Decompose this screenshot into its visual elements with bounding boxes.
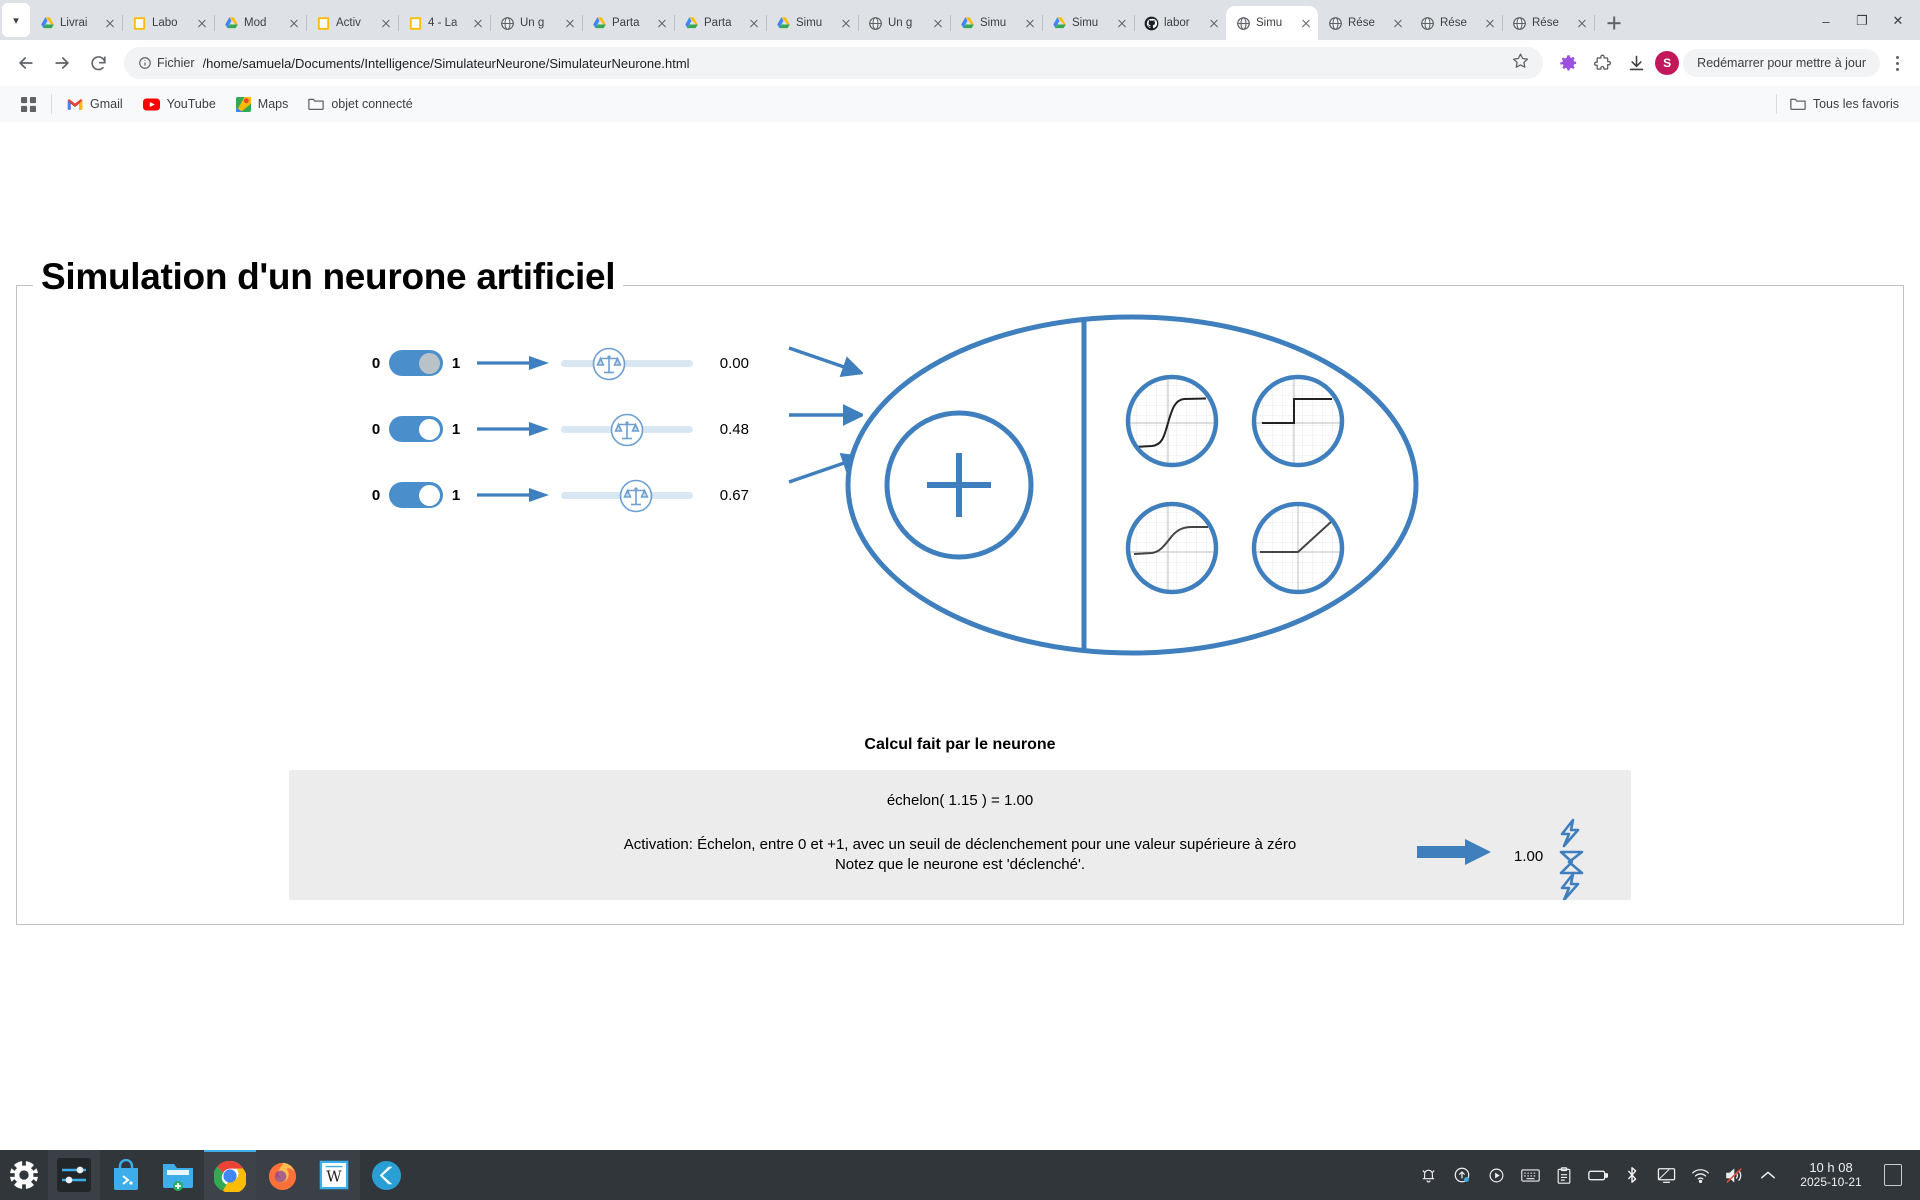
- calc-description-line2: Notez que le neurone est 'déclenché'.: [835, 856, 1085, 873]
- tab-title: Parta: [704, 15, 741, 31]
- apps-grid-icon[interactable]: [12, 93, 45, 116]
- input-arrow-icon: [477, 353, 549, 373]
- weight-slider[interactable]: [561, 409, 693, 449]
- browser-tab[interactable]: labor: [1134, 6, 1226, 40]
- calc-result-box: échelon( 1.15 ) = 1.00 Activation: Échel…: [289, 770, 1631, 900]
- toggle-knob: [419, 353, 440, 374]
- input-arrow-icon: [477, 485, 549, 505]
- tab-title: Livrai: [60, 15, 97, 31]
- simulator-panel: Simulation d'un neurone artificiel 010.0…: [16, 285, 1904, 925]
- docs-icon: [316, 16, 331, 31]
- toggle-knob: [419, 419, 440, 440]
- bookmark-label: Maps: [258, 97, 289, 111]
- drive-icon: [224, 16, 239, 31]
- minimize-button[interactable]: –: [1808, 6, 1844, 36]
- bluetooth-icon[interactable]: [1622, 1165, 1642, 1185]
- close-tab-icon[interactable]: [1206, 15, 1222, 31]
- calc-heading: Calcul fait par le neurone: [27, 736, 1893, 754]
- drive-icon: [40, 16, 55, 31]
- weight-value: 0.48: [703, 421, 749, 438]
- calc-formula: échelon( 1.15 ) = 1.00: [299, 792, 1621, 809]
- sigmoid-icon: [1126, 375, 1218, 467]
- tab-title: Simu: [1072, 15, 1109, 31]
- globe-icon: [868, 16, 883, 31]
- github-icon: [1144, 16, 1159, 31]
- display-icon[interactable]: [1656, 1165, 1676, 1185]
- drive-icon: [960, 16, 975, 31]
- plus-sum-icon: [887, 413, 1031, 557]
- page-title: Simulation d'un neurone artificiel: [33, 256, 623, 298]
- toggle-off-label: 0: [367, 421, 385, 438]
- input-toggle[interactable]: [389, 416, 443, 442]
- bookmark-label: Gmail: [90, 97, 123, 111]
- docs-icon: [132, 16, 147, 31]
- browser-tab[interactable]: Simu: [1226, 6, 1318, 40]
- battery-icon[interactable]: [1588, 1165, 1608, 1185]
- drive-icon: [592, 16, 607, 31]
- close-tab-icon[interactable]: [470, 15, 486, 31]
- clock-date: 2025-10-21: [1792, 1175, 1870, 1190]
- weight-value: 0.00: [703, 355, 749, 372]
- browser-tab[interactable]: Parta: [582, 6, 674, 40]
- extensions-puzzle-icon[interactable]: [1587, 48, 1617, 78]
- clock-time: 10 h 08: [1792, 1160, 1870, 1175]
- back-icon[interactable]: [10, 47, 42, 79]
- toggle-on-label: 1: [447, 355, 465, 372]
- close-window-button[interactable]: ✕: [1880, 6, 1916, 36]
- bookmarks-bar: Gmail YouTube Maps objet connecté Tous l…: [0, 86, 1920, 122]
- input-row: 010.48: [367, 396, 749, 462]
- relu-icon: [1252, 502, 1344, 594]
- neuron-body: [842, 310, 1422, 665]
- browser-tab[interactable]: Labo: [122, 6, 214, 40]
- wxmaxima-icon[interactable]: W: [308, 1150, 360, 1200]
- theme-gear-icon[interactable]: [1553, 48, 1583, 78]
- weight-slider[interactable]: [561, 343, 693, 383]
- keyboard-icon[interactable]: [1520, 1165, 1540, 1185]
- browser-tab[interactable]: Simu: [766, 6, 858, 40]
- weight-value: 0.67: [703, 487, 749, 504]
- globe-icon: [1512, 16, 1527, 31]
- close-tab-icon[interactable]: [1298, 15, 1314, 31]
- input-row: 010.67: [367, 462, 749, 528]
- close-tab-icon[interactable]: [1022, 15, 1038, 31]
- tab-title: 4 - La: [428, 15, 465, 31]
- input-toggle[interactable]: [389, 482, 443, 508]
- neuron-diagram: 010.00010.48010.67: [27, 310, 1893, 730]
- toggle-off-label: 0: [367, 355, 385, 372]
- maximize-button[interactable]: ❐: [1844, 6, 1880, 36]
- step-echelon-icon: [1252, 375, 1344, 467]
- browser-tab[interactable]: Activ: [306, 6, 398, 40]
- close-tab-icon[interactable]: [930, 15, 946, 31]
- tab-title: Simu: [1256, 15, 1293, 31]
- system-taskbar: W: [0, 1150, 1920, 1200]
- toggle-on-label: 1: [447, 487, 465, 504]
- close-tab-icon[interactable]: [378, 15, 394, 31]
- drive-icon: [1052, 16, 1067, 31]
- close-tab-icon[interactable]: [654, 15, 670, 31]
- bookmark-folder-objet-connecte[interactable]: objet connecté: [299, 93, 421, 115]
- close-tab-icon[interactable]: [1482, 15, 1498, 31]
- output-arrow-icon: [1417, 838, 1491, 871]
- browser-tab[interactable]: Simu: [1042, 6, 1134, 40]
- settings-icon[interactable]: [48, 1150, 100, 1200]
- tab-title: Un g: [888, 15, 925, 31]
- tab-title: Simu: [980, 15, 1017, 31]
- page-viewport: Simulation d'un neurone artificiel 010.0…: [0, 122, 1920, 1150]
- tab-title: Rése: [1440, 15, 1477, 31]
- bookmark-star-icon[interactable]: [1512, 52, 1529, 74]
- file-scheme-chip: Fichier: [138, 56, 195, 70]
- krita-icon[interactable]: [360, 1150, 412, 1200]
- browser-tab[interactable]: Simu: [950, 6, 1042, 40]
- close-tab-icon[interactable]: [562, 15, 578, 31]
- toggle-on-label: 1: [447, 421, 465, 438]
- bookmark-youtube[interactable]: YouTube: [134, 93, 225, 115]
- tab-title: Parta: [612, 15, 649, 31]
- close-tab-icon[interactable]: [1114, 15, 1130, 31]
- show-desktop-icon[interactable]: [1884, 1164, 1902, 1186]
- toggle-knob: [419, 485, 440, 506]
- browser-tab[interactable]: Livrai: [30, 6, 122, 40]
- clipboard-icon[interactable]: [1554, 1165, 1574, 1185]
- scheme-label: Fichier: [157, 56, 195, 70]
- clock[interactable]: 10 h 08 2025-10-21: [1792, 1160, 1870, 1190]
- globe-icon: [500, 16, 515, 31]
- profile-avatar[interactable]: S: [1655, 51, 1679, 75]
- svg-text:W: W: [326, 1168, 342, 1186]
- system-tray: 10 h 08 2025-10-21: [1418, 1160, 1920, 1190]
- globe-icon: [1236, 16, 1251, 31]
- browser-menu-icon[interactable]: [1884, 48, 1910, 78]
- wifi-icon[interactable]: [1690, 1165, 1710, 1185]
- browser-tab[interactable]: Un g: [858, 6, 950, 40]
- media-play-icon[interactable]: [1486, 1165, 1506, 1185]
- tab-title: Simu: [796, 15, 833, 31]
- forward-icon[interactable]: [46, 47, 78, 79]
- input-arrow-icon: [477, 419, 549, 439]
- tab-title: labor: [1164, 15, 1201, 31]
- browser-tab[interactable]: Un g: [490, 6, 582, 40]
- inputs-column: 010.00010.48010.67: [367, 330, 749, 528]
- browser-tab[interactable]: Rése: [1502, 6, 1594, 40]
- chevron-up-icon[interactable]: [1758, 1165, 1778, 1185]
- tab-title: Rése: [1348, 15, 1385, 31]
- all-bookmarks-button[interactable]: Tous les favoris: [1781, 93, 1908, 115]
- weight-scale-icon[interactable]: [610, 413, 644, 447]
- output-value: 1.00: [1514, 848, 1543, 865]
- close-tab-icon[interactable]: [102, 15, 118, 31]
- close-tab-icon[interactable]: [286, 15, 302, 31]
- tab-title: Mod: [244, 15, 281, 31]
- bookmark-gmail[interactable]: Gmail: [58, 93, 132, 115]
- new-tab-button[interactable]: [1600, 9, 1628, 37]
- input-toggle[interactable]: [389, 350, 443, 376]
- window-controls: – ❐ ✕: [1808, 6, 1920, 36]
- spike-output-icon: [1552, 818, 1598, 905]
- tab-title: Rése: [1532, 15, 1569, 31]
- bookmark-maps[interactable]: Maps: [227, 93, 298, 116]
- close-tab-icon[interactable]: [1574, 15, 1590, 31]
- file-manager-icon[interactable]: [152, 1150, 204, 1200]
- close-tab-icon[interactable]: [194, 15, 210, 31]
- firefox-icon[interactable]: [256, 1150, 308, 1200]
- tanh-icon: [1126, 502, 1218, 594]
- drive-icon: [776, 16, 791, 31]
- browser-window: ▾ LivraiLaboModActiv4 - LaUn gPartaParta…: [0, 0, 1920, 1150]
- browser-toolbar: Fichier /home/samuela/Documents/Intellig…: [0, 40, 1920, 86]
- browser-tab[interactable]: Rése: [1410, 6, 1502, 40]
- tab-strip: ▾ LivraiLaboModActiv4 - LaUn gPartaParta…: [0, 0, 1920, 40]
- weight-scale-icon[interactable]: [592, 347, 626, 381]
- calc-description-line1: Activation: Échelon, entre 0 et +1, avec…: [624, 836, 1297, 853]
- all-bookmarks-label: Tous les favoris: [1813, 97, 1899, 111]
- browser-tab[interactable]: Mod: [214, 6, 306, 40]
- update-icon[interactable]: [1452, 1165, 1472, 1185]
- tab-title: Labo: [152, 15, 189, 31]
- globe-icon: [1420, 16, 1435, 31]
- input-row: 010.00: [367, 330, 749, 396]
- toggle-off-label: 0: [367, 487, 385, 504]
- software-store-icon[interactable]: [100, 1150, 152, 1200]
- close-tab-icon[interactable]: [746, 15, 762, 31]
- reload-icon[interactable]: [82, 47, 114, 79]
- browser-tab[interactable]: 4 - La: [398, 6, 490, 40]
- docs-icon: [408, 16, 423, 31]
- globe-icon: [1328, 16, 1343, 31]
- browser-tab[interactable]: Rése: [1318, 6, 1410, 40]
- volume-muted-icon[interactable]: [1724, 1165, 1744, 1185]
- weight-scale-icon[interactable]: [619, 479, 653, 513]
- download-icon[interactable]: [1621, 48, 1651, 78]
- tab-title: Activ: [336, 15, 373, 31]
- browser-tab[interactable]: Parta: [674, 6, 766, 40]
- notifications-bell-icon[interactable]: [1418, 1165, 1438, 1185]
- drive-icon: [684, 16, 699, 31]
- weight-slider[interactable]: [561, 475, 693, 515]
- weight-track: [561, 360, 693, 367]
- bookmark-label: objet connecté: [331, 97, 412, 111]
- kde-launcher-icon[interactable]: [0, 1150, 48, 1200]
- tab-title: Un g: [520, 15, 557, 31]
- chrome-icon[interactable]: [204, 1150, 256, 1200]
- bookmark-label: YouTube: [167, 97, 216, 111]
- url-text: /home/samuela/Documents/Intelligence/Sim…: [203, 56, 1505, 71]
- close-tab-icon[interactable]: [1390, 15, 1406, 31]
- address-bar[interactable]: Fichier /home/samuela/Documents/Intellig…: [124, 47, 1543, 79]
- tab-search-chevron-icon[interactable]: ▾: [2, 3, 30, 37]
- restart-to-update-button[interactable]: Redémarrer pour mettre à jour: [1683, 49, 1880, 77]
- close-tab-icon[interactable]: [838, 15, 854, 31]
